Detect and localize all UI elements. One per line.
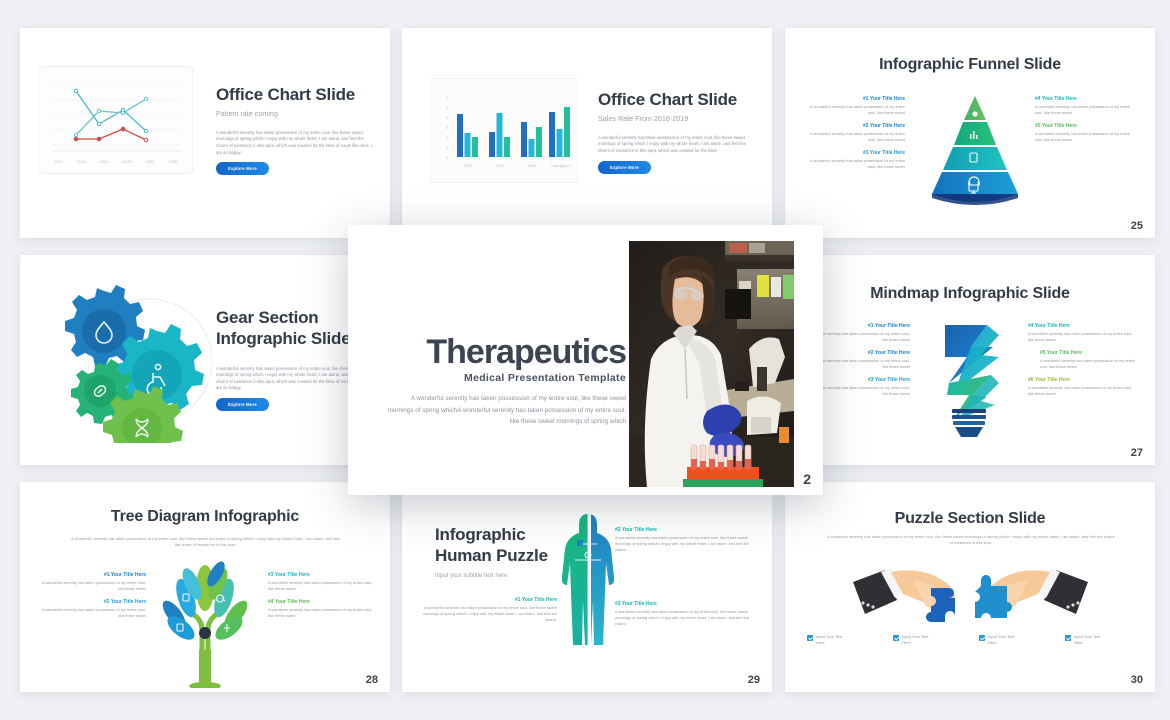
funnel-left-column: #1 Your Title Here A wonderful serenity …	[803, 96, 905, 177]
slide-grid-overview: 20102015 20202025 20302035 Office Chart …	[0, 0, 1170, 720]
checkbox-item-2[interactable]: Input Your TextHere	[893, 634, 965, 646]
mindmap-lightbulb-graphic	[925, 317, 1017, 439]
funnel-block-3-title: #3 Your Title Here	[803, 150, 905, 156]
checkbox-sub-2: Here	[902, 640, 911, 645]
tree-block-1: #1 Your Title Here A wonderful serenity …	[38, 572, 146, 592]
funnel-block-5-title: #5 Your Title Here	[1035, 123, 1137, 129]
mindmap-block-4-body: A wonderful serenity has taken possessio…	[1028, 331, 1136, 343]
slide-gear-section[interactable]: Gear Section Infographic Slide A wonderf…	[20, 255, 390, 465]
checkbox-checked-icon[interactable]	[893, 635, 899, 641]
human-puzzle-heading: Infographic Human Puzzle Input your subt…	[435, 524, 575, 579]
slide1-body: A wonderful serenity has taken possessio…	[216, 130, 376, 157]
svg-text:2015: 2015	[77, 159, 87, 164]
tree-block-3-title: #3 Your Title Here	[268, 572, 376, 578]
mindmap-right-column: #4 Your Title Here A wonderful serenity …	[1028, 323, 1136, 404]
svg-text:2016: 2016	[464, 163, 474, 168]
hero-photo	[629, 241, 794, 487]
funnel-right-column: #4 Your Title Here A wonderful serenity …	[1035, 96, 1137, 150]
checkbox-sub-1: Here	[816, 640, 825, 645]
line-chart-svg: 20102015 20202025 20302035	[39, 67, 194, 175]
slide-tree-diagram[interactable]: Tree Diagram Infographic A wonderful ser…	[20, 482, 390, 692]
page-number: 30	[1131, 674, 1143, 686]
handshake-puzzle-graphic	[853, 560, 1088, 630]
page-number: 27	[1131, 447, 1143, 459]
slide2-body: A wonderful serenity has taken possessio…	[598, 135, 758, 155]
svg-text:2035: 2035	[169, 159, 179, 164]
slide-office-chart-bar[interactable]: 654 321 0 20162017 2018Category 4	[402, 28, 772, 238]
checkbox-item-3[interactable]: Input Your TextHere	[979, 634, 1051, 646]
checkbox-checked-icon[interactable]	[807, 635, 813, 641]
slide-puzzle-section[interactable]: Puzzle Section Slide A wonderful serenit…	[785, 482, 1155, 692]
lab-scientist-photo	[629, 241, 794, 487]
svg-text:2030: 2030	[146, 159, 156, 164]
checkbox-label-4: Input Your Text	[1074, 634, 1100, 639]
checkbox-label-3: Input Your Text	[988, 634, 1014, 639]
hero-slide-therapeutics[interactable]: Therapeutics Medical Presentation Templa…	[348, 225, 823, 495]
funnel-block-2-title: #2 Your Title Here	[803, 123, 905, 129]
mindmap-block-5-title: #5 Your Title Here	[1040, 350, 1136, 356]
svg-text:0: 0	[446, 156, 448, 160]
tree-block-1-body: A wonderful serenity has taken possessio…	[38, 580, 146, 592]
human-puzzle-block-1-body: A wonderful serenity has taken possessio…	[422, 605, 557, 623]
page-number: 28	[366, 674, 378, 686]
human-puzzle-block-2-title: #2 Your Title Here	[615, 527, 760, 533]
slide1-title: Office Chart Slide	[216, 85, 376, 105]
funnel-block-2-body: A wonderful serenity has taken possessio…	[803, 131, 905, 143]
checkbox-sub-4: Here	[1074, 640, 1083, 645]
funnel-block-4: #4 Your Title Here A wonderful serenity …	[1035, 96, 1137, 116]
puzzle-intro: A wonderful serenity has taken possessio…	[827, 534, 1115, 547]
slide1-text-column: Office Chart Slide Patient rate coming A…	[216, 85, 376, 175]
tree-block-2-title: #2 Your Title Here	[38, 599, 146, 605]
explore-more-button[interactable]: Explore More	[216, 162, 269, 175]
mindmap-title: Mindmap Infographic Slide	[785, 285, 1155, 303]
funnel-block-1-body: A wonderful serenity has taken possessio…	[803, 104, 905, 116]
human-puzzle-left-column: #1 Your Title Here A wonderful serenity …	[422, 597, 557, 630]
human-puzzle-block-2-body: A wonderful serenity has taken possessio…	[615, 535, 760, 553]
svg-text:2017: 2017	[496, 163, 506, 168]
funnel-block-2: #2 Your Title Here A wonderful serenity …	[803, 123, 905, 143]
line-chart-panel: 20102015 20202025 20302035	[38, 66, 193, 174]
human-puzzle-block-3: #3 Your Title Here A wonderful serenity …	[615, 601, 760, 627]
tree-left-column: #1 Your Title Here A wonderful serenity …	[38, 572, 146, 626]
slide1-subtitle: Patient rate coming	[216, 109, 376, 118]
mindmap-block-5: #5 Your Title Here A wonderful serenity …	[1028, 350, 1136, 370]
checkbox-label-2: Input Your Text	[902, 634, 928, 639]
checkbox-item-4[interactable]: Input Your TextHere	[1065, 634, 1137, 646]
funnel-block-4-body: A wonderful serenity has taken possessio…	[1035, 104, 1137, 116]
mindmap-block-6: #6 Your Title Here A wonderful serenity …	[1028, 377, 1136, 397]
human-puzzle-block-1: #1 Your Title Here A wonderful serenity …	[422, 597, 557, 623]
bar-chart-panel: 654 321 0 20162017 2018Category 4	[430, 78, 578, 183]
tree-block-2-body: A wonderful serenity has taken possessio…	[38, 607, 146, 619]
funnel-block-1-title: #1 Your Title Here	[803, 96, 905, 102]
slide-infographic-funnel[interactable]: Infographic Funnel Slide #1 Your Title H…	[785, 28, 1155, 238]
tree-right-column: #3 Your Title Here A wonderful serenity …	[268, 572, 376, 626]
tree-block-4: #4 Your Title Here A wonderful serenity …	[268, 599, 376, 619]
human-puzzle-block-2: #2 Your Title Here A wonderful serenity …	[615, 527, 760, 553]
slide2-title: Office Chart Slide	[598, 90, 758, 110]
hero-page-number: 2	[803, 471, 811, 487]
checkbox-sub-3: Here	[988, 640, 997, 645]
svg-text:1: 1	[446, 146, 448, 150]
slide-human-puzzle[interactable]: Infographic Human Puzzle Input your subt…	[402, 482, 772, 692]
svg-text:4: 4	[446, 116, 448, 120]
svg-text:3: 3	[446, 126, 448, 130]
svg-text:5: 5	[446, 106, 448, 110]
mindmap-block-6-body: A wonderful serenity has taken possessio…	[1028, 385, 1136, 397]
svg-text:2018: 2018	[528, 163, 538, 168]
checkbox-item-1[interactable]: Input Your TextHere	[807, 634, 879, 646]
funnel-block-3: #3 Your Title Here A wonderful serenity …	[803, 150, 905, 170]
human-puzzle-title: Infographic Human Puzzle	[435, 524, 575, 567]
svg-text:2020: 2020	[100, 159, 110, 164]
svg-text:2025: 2025	[123, 159, 133, 164]
hero-body: A wonderful serenity has taken possessio…	[386, 393, 626, 428]
human-puzzle-subtitle: Input your subtitle text here	[435, 573, 575, 579]
explore-more-button[interactable]: Explore More	[598, 161, 651, 174]
mindmap-block-6-title: #6 Your Title Here	[1028, 377, 1136, 383]
puzzle-title: Puzzle Section Slide	[785, 510, 1155, 528]
page-number: 29	[748, 674, 760, 686]
human-puzzle-graphic	[557, 510, 619, 670]
human-puzzle-right-column: #2 Your Title Here A wonderful serenity …	[615, 527, 760, 634]
checkbox-label-1: Input Your Text	[816, 634, 842, 639]
funnel-block-3-body: A wonderful serenity has taken possessio…	[803, 158, 905, 170]
funnel-block-1: #1 Your Title Here A wonderful serenity …	[803, 96, 905, 116]
hero-title: Therapeutics	[386, 333, 626, 372]
human-puzzle-block-3-title: #3 Your Title Here	[615, 601, 760, 607]
tree-block-4-body: A wonderful serenity has taken possessio…	[268, 607, 376, 619]
tree-graphic	[150, 558, 260, 688]
mindmap-block-5-body: A wonderful serenity has taken possessio…	[1040, 358, 1136, 370]
funnel-pyramid-graphic	[920, 90, 1030, 215]
tree-block-3-body: A wonderful serenity has taken possessio…	[268, 580, 376, 592]
hero-subtitle: Medical Presentation Template	[386, 372, 626, 384]
checkbox-checked-icon[interactable]	[1065, 635, 1071, 641]
funnel-title: Infographic Funnel Slide	[785, 56, 1155, 74]
tree-title: Tree Diagram Infographic	[20, 508, 390, 526]
funnel-block-5-body: A wonderful serenity has taken possessio…	[1035, 131, 1137, 143]
human-puzzle-block-3-body: A wonderful serenity has taken possessio…	[615, 609, 760, 627]
funnel-block-5: #5 Your Title Here A wonderful serenity …	[1035, 123, 1137, 143]
svg-text:2010: 2010	[54, 159, 64, 164]
svg-text:Category 4: Category 4	[551, 163, 571, 168]
page-number: 25	[1131, 220, 1143, 232]
checkbox-checked-icon[interactable]	[979, 635, 985, 641]
svg-text:2: 2	[446, 136, 448, 140]
slide2-subtitle: Sales Rate From 2016-2019	[598, 114, 758, 123]
puzzle-checkbox-row: Input Your TextHere Input Your TextHere …	[807, 634, 1137, 646]
slide-mindmap-infographic[interactable]: Mindmap Infographic Slide #1 Your Title …	[785, 255, 1155, 465]
human-puzzle-block-1-title: #1 Your Title Here	[422, 597, 557, 603]
bar-chart-svg: 654 321 0 20162017 2018Category 4	[431, 79, 579, 184]
tree-block-2: #2 Your Title Here A wonderful serenity …	[38, 599, 146, 619]
explore-more-button[interactable]: Explore More	[216, 398, 269, 411]
tree-block-1-title: #1 Your Title Here	[38, 572, 146, 578]
tree-intro: A wonderful serenity has taken possessio…	[68, 536, 343, 549]
funnel-block-4-title: #4 Your Title Here	[1035, 96, 1137, 102]
slide-office-chart-line[interactable]: 20102015 20202025 20302035 Office Chart …	[20, 28, 390, 238]
svg-text:6: 6	[446, 96, 448, 100]
tree-block-3: #3 Your Title Here A wonderful serenity …	[268, 572, 376, 592]
slide2-text-column: Office Chart Slide Sales Rate From 2016-…	[598, 90, 758, 174]
tree-block-4-title: #4 Your Title Here	[268, 599, 376, 605]
mindmap-block-4-title: #4 Your Title Here	[1028, 323, 1136, 329]
mindmap-block-4: #4 Your Title Here A wonderful serenity …	[1028, 323, 1136, 343]
gear-cluster-graphic	[52, 283, 212, 443]
